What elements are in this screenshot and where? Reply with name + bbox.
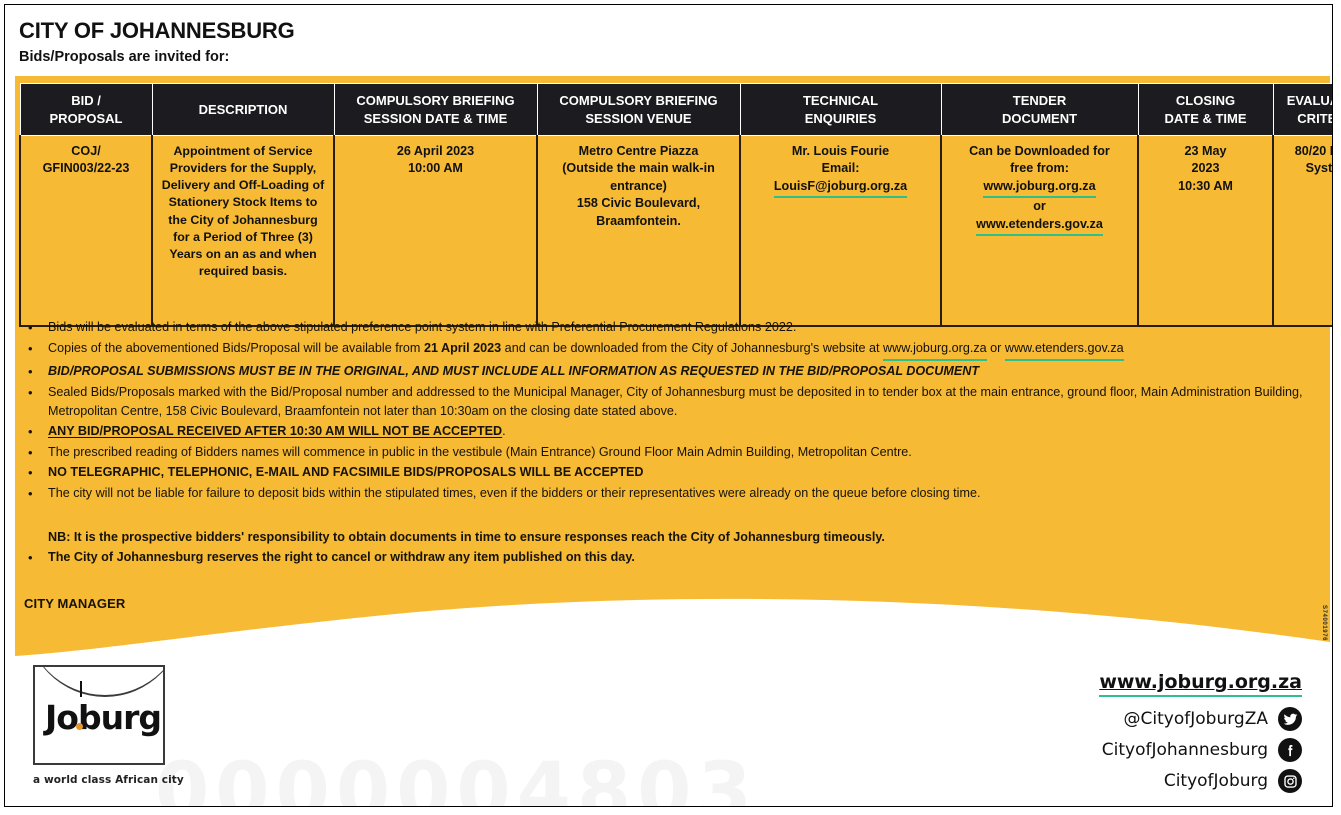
note-fragment: or xyxy=(987,341,1005,355)
note-fragment: Copies of the abovementioned Bids/Propos… xyxy=(48,341,424,355)
cell-technical-enquiries: Mr. Louis Fourie Email: LouisF@joburg.or… xyxy=(740,136,941,327)
masthead: CITY OF JOHANNESBURG Bids/Proposals are … xyxy=(19,19,1309,66)
col-briefing-venue: COMPULSORY BRIEFING SESSION VENUE xyxy=(537,84,740,136)
footer: Joburg a world class African city www.jo… xyxy=(5,653,1332,807)
cell-tender-document: Can be Downloaded for free from: www.job… xyxy=(941,136,1138,327)
list-item: • ANY BID/PROPOSAL RECEIVED AFTER 10:30 … xyxy=(27,422,1312,442)
cell-evaluation-criteria: 80/20 Point System xyxy=(1273,136,1333,327)
joburg-logo: Joburg a world class African city xyxy=(33,665,193,786)
col-technical-enquiries: TECHNICAL ENQUIRIES xyxy=(740,84,941,136)
instagram-handle: CityofJoburg xyxy=(1164,771,1268,791)
bullet-icon: • xyxy=(27,463,48,483)
list-item: • The prescribed reading of Bidders name… xyxy=(27,443,1312,463)
note-text: BID/PROPOSAL SUBMISSIONS MUST BE IN THE … xyxy=(48,362,1312,381)
list-item: • The City of Johannesburg reserves the … xyxy=(27,548,1312,568)
nb-note-text: NB: It is the prospective bidders' respo… xyxy=(48,528,1312,547)
note-text: NO TELEGRAPHIC, TELEPHONIC, E-MAIL AND F… xyxy=(48,463,1312,482)
bullet-icon: • xyxy=(27,548,48,568)
note-text: ANY BID/PROPOSAL RECEIVED AFTER 10:30 AM… xyxy=(48,422,1312,441)
logo-orange-dot-icon xyxy=(76,723,83,730)
social-row-instagram[interactable]: CityofJoburg xyxy=(1099,769,1302,793)
cancellation-note-text: The City of Johannesburg reserves the ri… xyxy=(48,548,1312,567)
tender-url-etenders-link[interactable]: www.etenders.gov.za xyxy=(976,216,1103,236)
page-title: CITY OF JOHANNESBURG xyxy=(19,19,1309,42)
conditions-list: • Bids will be evaluated in terms of the… xyxy=(27,318,1312,569)
list-item: • NO TELEGRAPHIC, TELEPHONIC, E-MAIL AND… xyxy=(27,463,1312,483)
logo-frame: Joburg xyxy=(33,665,165,765)
note-text: Sealed Bids/Proposals marked with the Bi… xyxy=(48,383,1312,421)
social-row-twitter[interactable]: @CityofJoburgZA xyxy=(1099,707,1302,731)
note-joburg-link[interactable]: www.joburg.org.za xyxy=(883,339,987,361)
list-item: • The city will not be liable for failur… xyxy=(27,484,1312,504)
cell-bid-number: COJ/ GFIN003/22-23 xyxy=(20,136,152,327)
note-text: Bids will be evaluated in terms of the a… xyxy=(48,318,1312,337)
cell-description: Appointment of Service Providers for the… xyxy=(152,136,334,327)
social-block: www.joburg.org.za @CityofJoburgZA Cityof… xyxy=(1099,671,1302,800)
note-text: The city will not be liable for failure … xyxy=(48,484,1312,503)
footer-website-link[interactable]: www.joburg.org.za xyxy=(1099,671,1302,697)
facebook-handle: CityofJohannesburg xyxy=(1102,740,1268,760)
social-row-facebook[interactable]: CityofJohannesburg xyxy=(1099,738,1302,762)
email-link[interactable]: LouisF@joburg.org.za xyxy=(774,178,907,198)
facebook-icon[interactable] xyxy=(1278,738,1302,762)
note-text: The prescribed reading of Bidders names … xyxy=(48,443,1312,462)
col-tender-document: TENDER DOCUMENT xyxy=(941,84,1138,136)
bullet-icon: • xyxy=(27,318,48,338)
list-item: • Sealed Bids/Proposals marked with the … xyxy=(27,383,1312,421)
invite-subtitle: Bids/Proposals are invited for: xyxy=(19,50,1309,66)
col-evaluation-criteria: EVALUATION CRITERIA xyxy=(1273,84,1333,136)
list-item: • BID/PROPOSAL SUBMISSIONS MUST BE IN TH… xyxy=(27,362,1312,382)
note-fragment: and can be downloaded from the City of J… xyxy=(501,341,883,355)
note-text: Copies of the abovementioned Bids/Propos… xyxy=(48,339,1312,361)
bullet-icon: • xyxy=(27,339,48,359)
bullet-icon: • xyxy=(27,422,48,442)
bullet-icon: • xyxy=(27,484,48,504)
twitter-handle: @CityofJoburgZA xyxy=(1124,709,1268,729)
advert-page: CITY OF JOHANNESBURG Bids/Proposals are … xyxy=(4,4,1333,807)
bullet-icon: • xyxy=(27,362,48,382)
late-bid-warning: ANY BID/PROPOSAL RECEIVED AFTER 10:30 AM… xyxy=(48,424,502,438)
tender-table: BID / PROPOSAL DESCRIPTION COMPULSORY BR… xyxy=(19,83,1333,327)
cell-briefing-datetime: 26 April 2023 10:00 AM xyxy=(334,136,537,327)
note-fragment: . xyxy=(502,424,506,438)
logo-wordmark: Joburg xyxy=(45,701,161,734)
availability-date: 21 April 2023 xyxy=(424,341,501,355)
instagram-icon[interactable] xyxy=(1278,769,1302,793)
cell-briefing-venue: Metro Centre Piazza (Outside the main wa… xyxy=(537,136,740,327)
list-item: • Bids will be evaluated in terms of the… xyxy=(27,318,1312,338)
signoff-city-manager: CITY MANAGER xyxy=(24,596,125,611)
table-row: COJ/ GFIN003/22-23 Appointment of Servic… xyxy=(20,136,1333,327)
logo-tick-mark xyxy=(80,681,82,697)
logo-tagline: a world class African city xyxy=(33,774,193,786)
table-header-row: BID / PROPOSAL DESCRIPTION COMPULSORY BR… xyxy=(20,84,1333,136)
tender-url-joburg-link[interactable]: www.joburg.org.za xyxy=(983,178,1095,198)
cell-closing-datetime: 23 May 2023 10:30 AM xyxy=(1138,136,1273,327)
col-briefing-datetime: COMPULSORY BRIEFING SESSION DATE & TIME xyxy=(334,84,537,136)
twitter-icon[interactable] xyxy=(1278,707,1302,731)
col-description: DESCRIPTION xyxy=(152,84,334,136)
bullet-icon: • xyxy=(27,443,48,463)
col-closing-datetime: CLOSING DATE & TIME xyxy=(1138,84,1273,136)
logo-arc-shape xyxy=(33,665,165,697)
nb-note: NB: It is the prospective bidders' respo… xyxy=(27,528,1312,547)
col-bid-proposal: BID / PROPOSAL xyxy=(20,84,152,136)
note-etenders-link[interactable]: www.etenders.gov.za xyxy=(1005,339,1124,361)
spacer xyxy=(27,505,1312,522)
reference-code: S74001976 xyxy=(1321,605,1327,641)
bullet-icon: • xyxy=(27,383,48,403)
list-item: • Copies of the abovementioned Bids/Prop… xyxy=(27,339,1312,361)
